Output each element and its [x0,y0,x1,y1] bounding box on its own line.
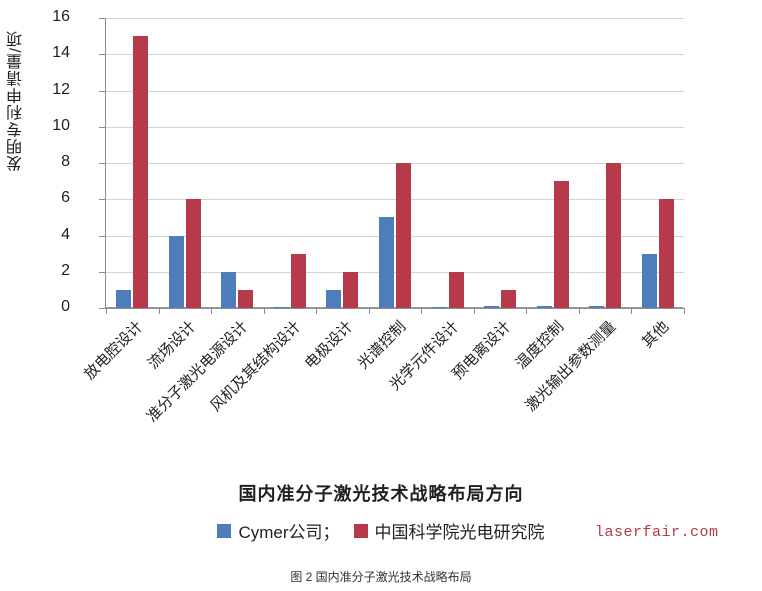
bar-0-1 [169,236,184,309]
bar-1-1 [186,199,201,308]
y-tick-mark [99,54,105,55]
bar-0-9 [589,306,604,308]
y-tick-label-16: 16 [30,8,70,26]
bar-group [379,18,411,308]
y-tick-mark [99,236,105,237]
watermark: laserfair.com [595,524,719,541]
legend-item-0: Cymer公司； [217,518,339,543]
bar-0-3 [274,307,289,309]
bar-1-9 [606,163,621,308]
y-tick-label-6: 6 [30,189,70,207]
y-tick-mark [99,199,105,200]
bar-0-4 [326,290,341,308]
bar-1-2 [238,290,253,308]
bar-1-7 [501,290,516,308]
bar-group [432,18,464,308]
bar-group [484,18,516,308]
y-tick-mark [99,163,105,164]
bar-group [642,18,674,308]
bar-group [537,18,569,308]
y-tick-mark [99,18,105,19]
bar-0-7 [484,306,499,308]
y-tick-mark [99,127,105,128]
y-tick-label-8: 8 [30,153,70,171]
x-axis-line [105,308,684,309]
bar-group [274,18,306,308]
y-tick-label-14: 14 [30,44,70,62]
legend-label-0: Cymer公司； [238,518,339,543]
bar-group [116,18,148,308]
bar-1-0 [133,36,148,308]
chart-container: 发明专利申请量/项 16 14 12 10 8 6 4 2 0 放电腔设计流场设… [0,0,762,591]
bar-group [221,18,253,308]
y-tick-label-10: 10 [30,117,70,135]
bar-0-6 [432,307,447,309]
bar-0-8 [537,306,552,308]
y-tick-mark [99,91,105,92]
bar-1-6 [449,272,464,308]
bars-layer [106,18,684,308]
y-axis-title: 发明专利申请量/项 [6,30,32,171]
bar-0-2 [221,272,236,308]
legend-item-1: 中国科学院光电研究院 [354,518,545,543]
y-tick-label-2: 2 [30,262,70,280]
chart-title: 国内准分子激光技术战略布局方向 [0,480,762,506]
bar-1-3 [291,254,306,308]
bar-1-8 [554,181,569,308]
y-tick-mark [99,272,105,273]
bar-group [169,18,201,308]
figure-caption: 图 2 国内准分子激光技术战略布局 [0,568,762,585]
bar-1-5 [396,163,411,308]
bar-0-0 [116,290,131,308]
bar-0-10 [642,254,657,308]
y-tick-label-12: 12 [30,81,70,99]
y-tick-mark [99,308,105,309]
x-axis-labels: 放电腔设计流场设计准分子激光电源设计风机及其结构设计电极设计光谱控制光学元件设计… [0,312,762,462]
bar-1-4 [343,272,358,308]
legend-swatch-icon [354,524,368,538]
legend-swatch-icon [217,524,231,538]
bar-0-5 [379,217,394,308]
bar-1-10 [659,199,674,308]
bar-group [326,18,358,308]
bar-group [589,18,621,308]
y-tick-label-4: 4 [30,226,70,244]
legend-label-1: 中国科学院光电研究院 [375,518,545,543]
